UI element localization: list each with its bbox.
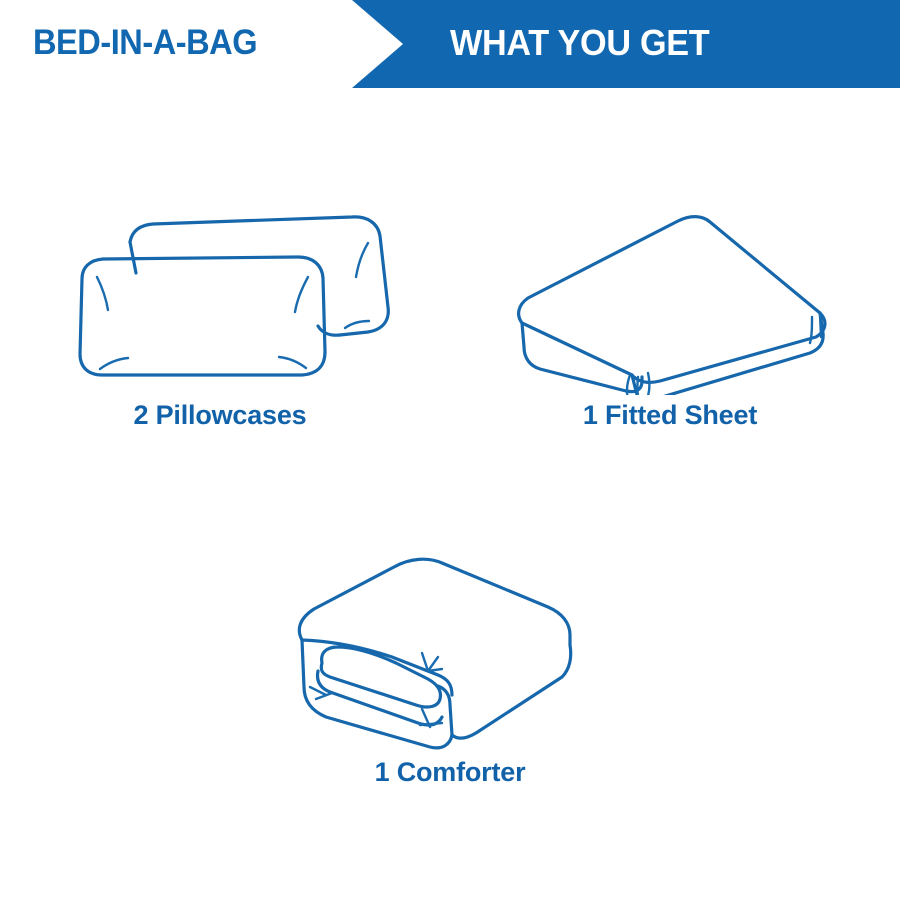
banner-right-title: WHAT YOU GET <box>450 20 709 65</box>
infographic-page: BED-IN-A-BAG WHAT YOU GET 2 Pillowcases <box>0 0 900 900</box>
fitted-sheet-icon <box>490 195 850 395</box>
caption-pillowcases: 2 Pillowcases <box>40 400 400 431</box>
item-comforter: 1 Comforter <box>270 545 630 810</box>
caption-comforter: 1 Comforter <box>270 757 630 788</box>
item-fitted-sheet: 1 Fitted Sheet <box>490 195 850 455</box>
banner-left-title: BED-IN-A-BAG <box>33 21 257 65</box>
caption-fitted-sheet: 1 Fitted Sheet <box>490 400 850 431</box>
two-pillowcases-icon <box>40 195 400 395</box>
header-banner: BED-IN-A-BAG WHAT YOU GET <box>0 0 900 90</box>
folded-comforter-icon <box>270 545 630 755</box>
item-pillowcases: 2 Pillowcases <box>40 195 400 455</box>
